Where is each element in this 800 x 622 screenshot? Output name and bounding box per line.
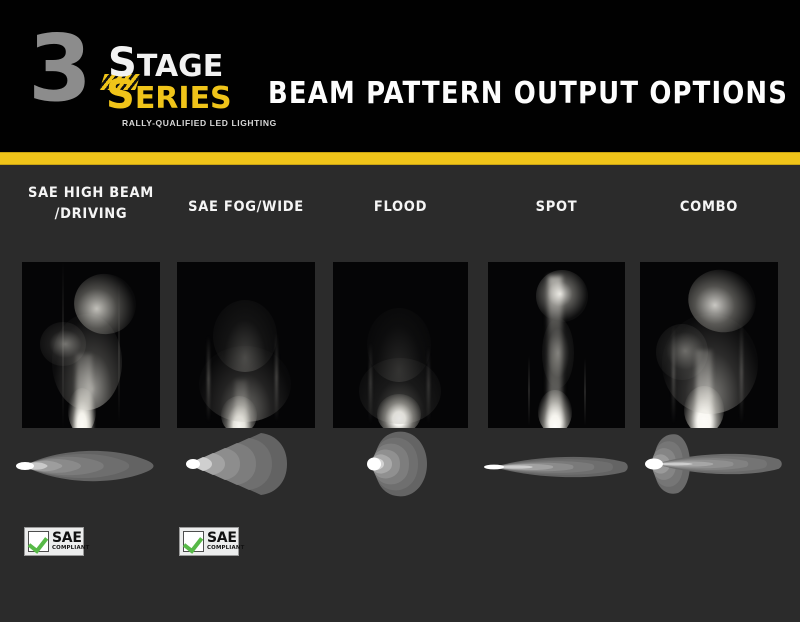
sae-compliant-badge-high-beam: SAE COMPLIANT: [24, 527, 84, 556]
badge-subtitle: COMPLIANT: [52, 546, 89, 551]
beam-label-sae-fog-wide: SAE FOG/WIDE: [161, 197, 331, 218]
check-icon: [183, 531, 204, 552]
logo-stage-rest: TAGE: [137, 49, 223, 84]
beam-column-sae-high-beam-driving: SAE HIGH BEAM /DRIVING: [22, 165, 160, 622]
beam-diagram-svg: [484, 447, 634, 487]
beam-diagram-svg: [632, 431, 790, 497]
header-banner: 3 STAGE SERIES RALLY-QUALIFIED LED LIGHT…: [0, 0, 800, 152]
logo-numeral-3: 3: [28, 24, 88, 114]
logo-word-series: SERIES: [106, 80, 232, 114]
beam-label-sae-high-beam-driving: SAE HIGH BEAM /DRIVING: [6, 183, 176, 225]
beam-diagram-sae-high-beam-driving: [16, 440, 168, 492]
beam-column-flood: FLOOD: [333, 165, 468, 622]
logo-series-rest: ERIES: [135, 81, 232, 116]
stage-series-logo: 3 STAGE SERIES RALLY-QUALIFIED LED LIGHT…: [28, 22, 248, 132]
beam-diagram-svg: [16, 440, 168, 492]
beam-diagram-spot: [484, 447, 634, 487]
beam-photo-spot: [488, 262, 625, 428]
beam-diagram-sae-fog-wide: [183, 431, 313, 497]
beam-label-flood: FLOOD: [317, 197, 484, 218]
beam-photo-combo: [640, 262, 778, 428]
badge-title: SAE: [52, 531, 89, 545]
beam-photo-sae-high-beam-driving: [22, 262, 160, 428]
sae-compliant-badge-fog-wide: SAE COMPLIANT: [179, 527, 239, 556]
check-icon: [28, 531, 49, 552]
beam-column-spot: SPOT: [488, 165, 625, 622]
badge-text: SAE COMPLIANT: [207, 531, 244, 551]
beam-label-combo: COMBO: [624, 197, 794, 218]
beam-column-combo: COMBO: [640, 165, 778, 622]
beam-diagram-svg: [183, 431, 313, 497]
badge-text: SAE COMPLIANT: [52, 531, 89, 551]
badge-title: SAE: [207, 531, 244, 545]
beam-photo-sae-fog-wide: [177, 262, 315, 428]
yellow-divider-bar: [0, 152, 800, 165]
logo-tagline: RALLY-QUALIFIED LED LIGHTING: [122, 118, 277, 128]
logo-series-capital: S: [106, 72, 135, 118]
beam-diagram-flood: [357, 429, 443, 499]
beam-label-spot: SPOT: [472, 197, 641, 218]
page-title: BEAM PATTERN OUTPUT OPTIONS: [268, 76, 788, 111]
beam-photo-flood: [333, 262, 468, 428]
beam-diagram-combo: [632, 431, 790, 497]
badge-subtitle: COMPLIANT: [207, 546, 244, 551]
beam-pattern-grid: SAE HIGH BEAM /DRIVING: [0, 165, 800, 622]
beam-column-sae-fog-wide: SAE FOG/WIDE SAE COMPLI: [177, 165, 315, 622]
beam-diagram-svg: [357, 429, 443, 499]
